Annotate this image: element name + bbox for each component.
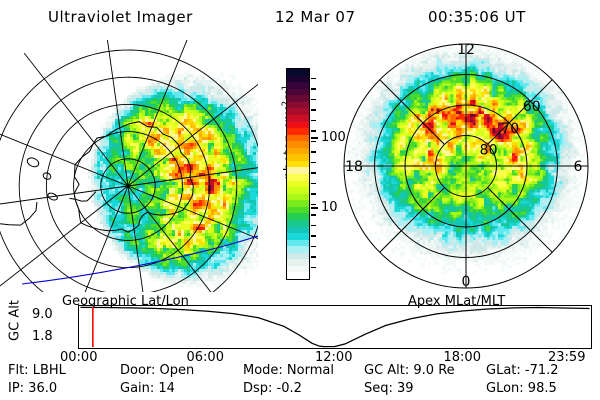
colorbar-minor-tick (311, 214, 316, 216)
aurora-pixel (247, 275, 251, 279)
colorbar: photon cm-2s-1 10010 (255, 60, 340, 292)
south-america-coast (0, 202, 37, 225)
colorbar-minor-tick (311, 130, 316, 132)
aurora-pixel (235, 281, 239, 285)
instrument-title: Ultraviolet Imager (48, 8, 193, 26)
colorbar-minor-tick (311, 235, 316, 237)
apex-mlat-mlt-panel[interactable]: 121806807060 (340, 40, 600, 292)
colorbar-gradient-box (286, 68, 310, 280)
colorbar-gradient (287, 69, 309, 279)
colorbar-minor-tick (311, 88, 316, 90)
aurora-pixel (238, 272, 242, 276)
colorbar-minor-tick (311, 256, 316, 258)
colorbar-tick-label: 10 (321, 201, 338, 214)
colorbar-minor-tick (311, 246, 316, 248)
colorbar-minor-tick (311, 109, 316, 111)
aurora-pixel (229, 284, 233, 288)
observation-time: 00:35:06 UT (428, 8, 526, 26)
observation-date: 12 Mar 07 (275, 8, 356, 26)
colorbar-major-tick (311, 207, 318, 209)
colorbar-minor-tick (311, 99, 316, 101)
colorbar-minor-tick (311, 141, 316, 143)
mlt-dial-svg: 121806807060 (340, 40, 600, 292)
colorbar-minor-tick (311, 78, 316, 80)
geographic-map-svg (0, 40, 258, 292)
aurora-pixel (241, 278, 245, 282)
geographic-map-panel[interactable] (0, 40, 258, 292)
island-outline (26, 156, 40, 168)
colorbar-minor-tick (311, 151, 316, 153)
colorbar-minor-tick (311, 183, 316, 185)
header-bar: Ultraviolet Imager 12 Mar 07 00:35:06 UT (0, 6, 600, 30)
aurora-pixel (244, 83, 248, 87)
colorbar-minor-tick (311, 204, 316, 206)
colorbar-minor-tick (311, 225, 316, 227)
aurora-pixel (193, 287, 197, 291)
colorbar-major-tick (311, 137, 318, 139)
colorbar-minor-tick (311, 267, 316, 269)
colorbar-minor-tick (311, 162, 316, 164)
uvi-display: Ultraviolet Imager 12 Mar 07 00:35:06 UT… (0, 0, 600, 400)
colorbar-band-31 (287, 272, 309, 279)
colorbar-minor-tick (311, 193, 316, 195)
colorbar-minor-tick (311, 120, 316, 122)
colorbar-minor-tick (311, 172, 316, 174)
